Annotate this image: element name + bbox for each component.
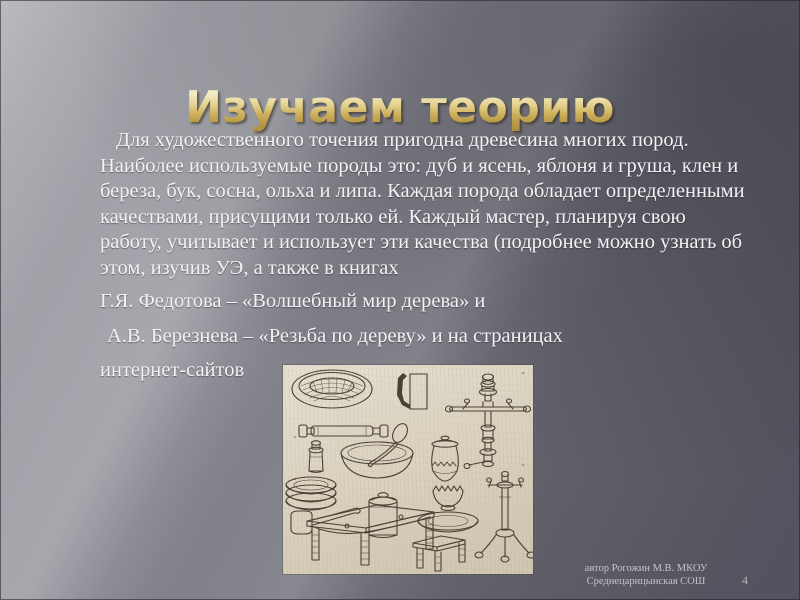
slide-body-text: Для художественного точения пригодна дре…	[100, 128, 745, 384]
illustration-line-drawing	[283, 365, 533, 574]
woodturning-illustration	[283, 365, 533, 574]
footer-credit-line-1: автор Рогожин М.В. МКОУ	[556, 562, 736, 575]
body-paragraph-main: Для художественного точения пригодна дре…	[100, 128, 745, 281]
body-paragraph-book-2: А.В. Березнева – «Резьба по дереву» и на…	[100, 324, 745, 350]
slide-title: Изучаем теорию	[0, 85, 800, 131]
slide-number: 4	[742, 573, 748, 588]
footer-credit: автор Рогожин М.В. МКОУ Среднецарицынска…	[556, 562, 736, 588]
slide-canvas: Изучаем теорию Для художественного точен…	[0, 0, 800, 600]
body-paragraph-book-1: Г.Я. Федотова – «Волшебный мир дерева» и	[100, 289, 745, 315]
footer-credit-line-2: Среднецарицынская СОШ	[556, 575, 736, 588]
